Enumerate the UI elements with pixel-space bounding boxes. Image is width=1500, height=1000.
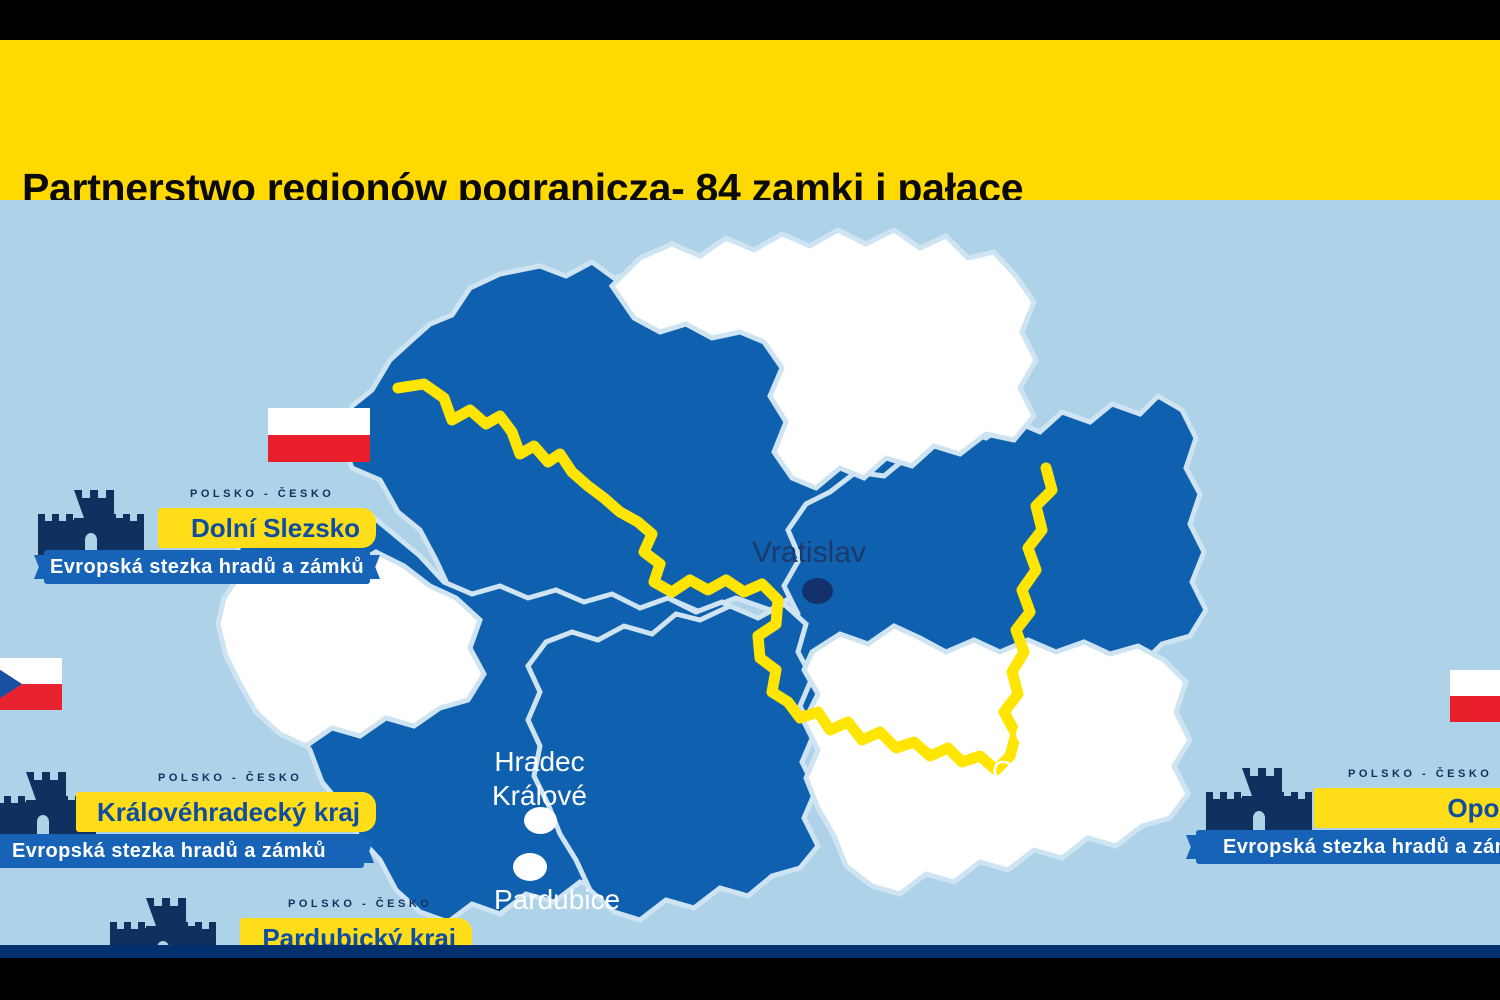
map-canvas[interactable]: Vratislav Hradec Králové Pardubice Opole… (0, 200, 1500, 945)
logo-region-name: Dolní Slezsko (191, 513, 360, 544)
city-label-hradec-line1: Hradec (492, 745, 587, 779)
logo-opolske[interactable]: POLSKO - ČESKO Opolské Evropská stezka h… (1196, 756, 1500, 866)
flag-czechia-left (0, 658, 62, 710)
logo-region-banner: Opolské (1314, 788, 1500, 828)
castle-icon (100, 892, 226, 945)
letterbox-top (0, 0, 1500, 40)
logo-tagline: Evropská stezka hradů a zámků (1223, 836, 1500, 859)
title-band: Partnerstwo regionów pogranicza- 84 zamk… (0, 40, 1500, 200)
flag-stripe-red (1450, 696, 1500, 722)
city-label-hradec-kralove: Hradec Králové (492, 745, 587, 813)
logo-tagline-ribbon: Evropská stezka hradů a zámků (1196, 830, 1500, 864)
logo-kralovehradecky-kraj[interactable]: POLSKO - ČESKO Královéhradecký kraj Evro… (0, 760, 378, 870)
city-label-vratislav: Vratislav (752, 536, 866, 570)
flag-stripe-red (268, 435, 370, 462)
flag-stripe-white (268, 408, 370, 435)
logo-tagline: Evropská stezka hradů a zámků (50, 556, 364, 579)
city-label-opole: Opole (992, 756, 1069, 789)
city-dot-opole (1016, 721, 1047, 747)
logo-tagline-ribbon: Evropská stezka hradů a zámků (0, 834, 364, 868)
logo-kicker: POLSKO - ČESKO (158, 772, 302, 784)
logo-dolni-slezsko[interactable]: POLSKO - ČESKO Dolní Slezsko Evropská st… (28, 478, 378, 588)
letterbox-bottom (0, 958, 1500, 1000)
logo-region-banner: Dolní Slezsko (158, 508, 376, 548)
logo-tagline: Evropská stezka hradů a zámků (12, 840, 326, 863)
logo-region-banner: Pardubický kraj (240, 918, 472, 945)
flag-poland-top (268, 408, 370, 462)
logo-kicker: POLSKO - ČESKO (190, 488, 334, 500)
logo-tagline-ribbon: Evropská stezka hradů a zámků (44, 550, 370, 584)
logo-pardubicky-kraj[interactable]: POLSKO - ČESKO Pardubický kraj Evropská … (100, 886, 472, 945)
logo-region-name: Pardubický kraj (262, 923, 456, 946)
city-dot-hradec-kralove (524, 807, 557, 834)
logo-kicker: POLSKO - ČESKO (288, 898, 432, 910)
footer-navy-strip (0, 945, 1500, 958)
city-dot-vratislav (802, 578, 833, 604)
city-dot-pardubice (513, 853, 547, 881)
flag-stripe-white (1450, 670, 1500, 696)
logo-region-name: Královéhradecký kraj (97, 797, 360, 828)
logo-region-banner: Královéhradecký kraj (76, 792, 376, 832)
flag-wedge-blue (0, 658, 22, 710)
city-label-pardubice: Pardubice (494, 884, 620, 916)
logo-region-name: Opolské (1447, 793, 1500, 824)
flag-poland-right (1450, 670, 1500, 722)
logo-kicker: POLSKO - ČESKO (1348, 768, 1492, 780)
